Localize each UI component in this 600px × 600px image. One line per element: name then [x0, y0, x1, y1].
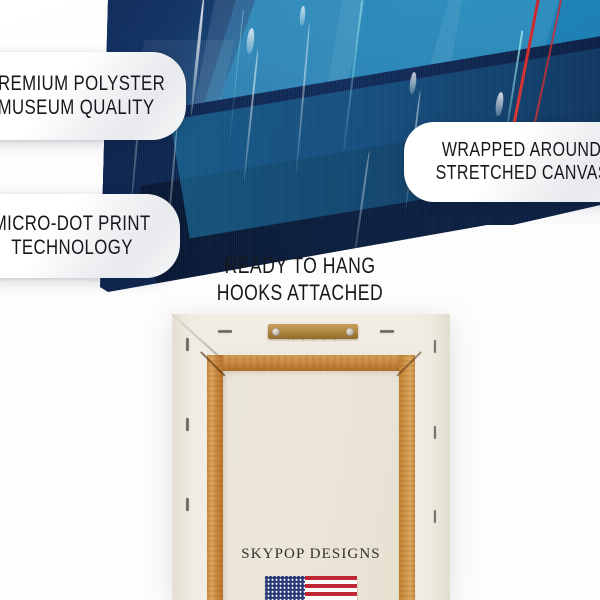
- staple: [186, 498, 189, 511]
- staple: [380, 330, 394, 333]
- frame-miter-joint-right: [389, 355, 415, 381]
- callout-line: PREMIUM POLYSTER: [0, 72, 165, 96]
- callout-badge-wrapped: WRAPPED AROUND STRETCHED CANVAS: [404, 122, 600, 202]
- staple: [434, 340, 437, 353]
- staple: [434, 426, 437, 439]
- stretcher-bar-left: [207, 355, 223, 600]
- callout-line: STRETCHED CANVAS: [435, 162, 600, 185]
- frame-miter-joint-left: [207, 355, 233, 381]
- staple: [218, 330, 232, 333]
- callout-line: WRAPPED AROUND: [442, 139, 600, 162]
- callout-badge-premium: PREMIUM POLYSTER MUSEUM QUALITY: [0, 52, 186, 140]
- ready-line: HOOKS ATTACHED: [60, 279, 540, 306]
- hanger-screw-right: [346, 328, 354, 336]
- brand-name: SKYPOP DESIGNS: [223, 546, 399, 563]
- ready-to-hang-text: READY TO HANG HOOKS ATTACHED: [0, 252, 600, 307]
- staple: [186, 418, 189, 431]
- staple: [434, 510, 437, 523]
- flag-union: [265, 576, 305, 600]
- stretcher-bar-right: [399, 355, 415, 600]
- callout-line: MUSEUM QUALITY: [0, 96, 154, 120]
- sawtooth-hanger-icon: [268, 324, 358, 339]
- canvas-inner-surface: SKYPOP DESIGNS: [223, 371, 399, 600]
- usa-flag-icon: [265, 576, 357, 600]
- canvas-right-wrap: [416, 314, 450, 600]
- callout-line: MICRO-DOT PRINT: [0, 212, 151, 236]
- canvas-back-mockup: SKYPOP DESIGNS: [172, 314, 450, 600]
- ready-line: READY TO HANG: [60, 252, 540, 279]
- product-feature-graphic: PREMIUM POLYSTER MUSEUM QUALITY WRAPPED …: [0, 0, 600, 600]
- staple: [186, 338, 189, 351]
- stretcher-bar-top: [207, 355, 415, 371]
- flag-stars: [265, 576, 305, 600]
- hanger-screw-left: [272, 328, 280, 336]
- wooden-stretcher-frame: SKYPOP DESIGNS: [207, 355, 415, 600]
